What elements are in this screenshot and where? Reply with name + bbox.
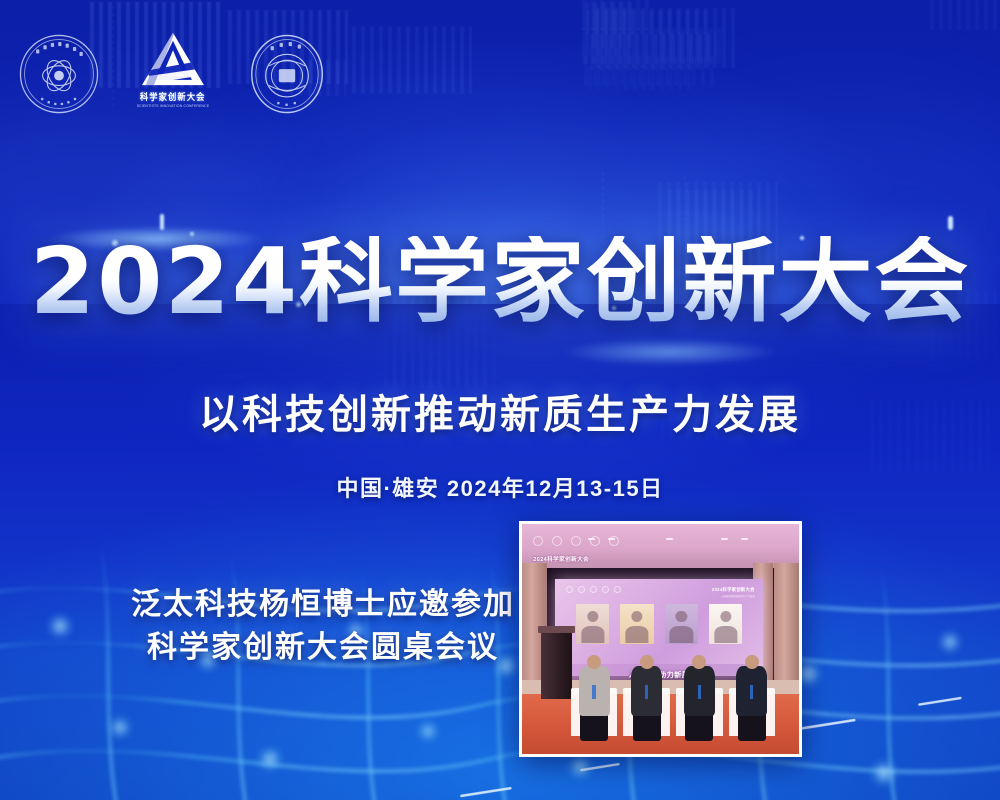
main-title-wrap: 2024科学家创新大会 xyxy=(0,236,1000,328)
conference-poster: 科学家创新大会 SCIENTISTS INNOVATION CONFERENCE xyxy=(0,0,1000,800)
page-title: 2024科学家创新大会 xyxy=(30,236,971,328)
sub-title: 以科技创新推动新质生产力发展 xyxy=(0,382,1000,440)
caption-line-1: 泛太科技杨恒博士应邀参加 xyxy=(128,584,518,627)
circular-seal-left-icon xyxy=(18,33,100,115)
speaker-card xyxy=(576,604,609,644)
logo-row: 科学家创新大会 SCIENTISTS INNOVATION CONFERENCE xyxy=(18,30,328,118)
speaker-card xyxy=(620,604,653,644)
triangle-emblem-label: 科学家创新大会 xyxy=(140,90,206,103)
panelist xyxy=(627,648,666,735)
circular-seal-right-icon xyxy=(246,33,328,115)
date-location-line: 中国·雄安 2024年12月13-15日 xyxy=(0,471,1000,503)
panelist xyxy=(733,648,772,735)
light-flare xyxy=(560,338,780,366)
caption-line-2: 科学家创新大会圆桌会议 xyxy=(128,627,518,670)
screen-subheading: 以科技创新推动新质生产力发展 xyxy=(721,594,754,598)
speaker-card xyxy=(709,604,742,644)
triangle-emblem-sublabel: SCIENTISTS INNOVATION CONFERENCE xyxy=(137,104,210,108)
ceiling-banner-text: 2024科学家创新大会 xyxy=(533,555,589,563)
panelist xyxy=(575,648,614,735)
caption-block: 泛太科技杨恒博士应邀参加 科学家创新大会圆桌会议 xyxy=(128,584,518,669)
photo-scene: 2024科学家创新大会 2024科学家创新大会 以科技创新推动新质生产力发展 xyxy=(522,524,799,754)
screen-icon-row xyxy=(566,586,621,593)
screen-heading: 2024科学家创新大会 xyxy=(712,587,755,593)
ceiling-icon-row xyxy=(533,536,619,546)
conference-photo: 2024科学家创新大会 2024科学家创新大会 以科技创新推动新质生产力发展 xyxy=(519,521,802,757)
speaker-card xyxy=(665,604,698,644)
triangle-emblem-center-icon: 科学家创新大会 SCIENTISTS INNOVATION CONFERENCE xyxy=(130,30,216,118)
podium xyxy=(541,630,571,699)
mesh-fade-overlay xyxy=(0,304,1000,800)
panelist xyxy=(680,648,719,735)
